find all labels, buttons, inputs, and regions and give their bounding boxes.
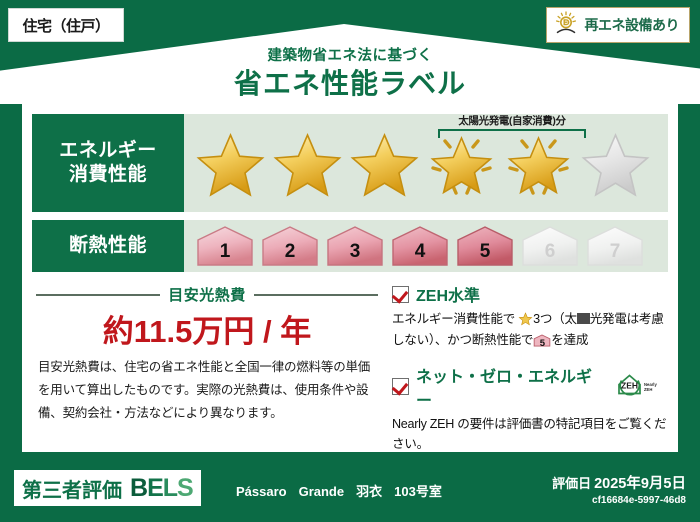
- category-chip: 住宅（住戸）: [8, 8, 124, 42]
- label-title: 省エネ性能ラベル: [0, 62, 700, 102]
- net-zero-energy-heading: ネット・ゼロ・エネルギー: [416, 363, 606, 411]
- insulation-level-badge-inline: 5: [533, 333, 551, 348]
- bels-energy-label: 住宅（住戸） 再エネ設備あり 建築物省エネ法に基づく 省エネ性能ラベル: [0, 0, 700, 522]
- zeh-standard-body-part2: 3つ（太: [533, 312, 577, 326]
- zeh-standard-heading: ZEH水準: [416, 282, 480, 306]
- net-zero-energy-body: Nearly ZEH の要件は評価書の特記項目をご覧ください。: [392, 414, 668, 456]
- energy-performance-row: エネルギー 消費性能: [32, 114, 668, 212]
- insulation-level-3-num: 3: [324, 241, 386, 263]
- insulation-level-1-num: 1: [194, 241, 256, 263]
- bels-letter-e: E: [147, 474, 163, 502]
- zeh-house-logo-icon: ZEH Nearly ZEH: [616, 372, 668, 401]
- insulation-performance-value: 1 2: [184, 220, 668, 272]
- insulation-level-4: 4: [389, 224, 451, 268]
- insulation-level-badge-inline-num: 5: [533, 336, 551, 352]
- star-2-filled: [269, 126, 346, 200]
- zeh-standard-block: ZEH水準 エネルギー消費性能で 3つ（太光発電は考慮しない）、かつ断熱性能で …: [392, 282, 668, 351]
- insulation-level-6-num: 6: [519, 241, 581, 263]
- evaluation-date-row: 評価日2025年9月5日: [552, 472, 686, 493]
- zeh-standard-body-part4: を達成: [551, 333, 588, 347]
- evaluation-date-value: 2025年9月5日: [594, 476, 686, 492]
- property-name: PássaroGrande羽衣103号室: [236, 481, 454, 500]
- zeh-standard-body: エネルギー消費性能で 3つ（太光発電は考慮しない）、かつ断熱性能で 5 を達成: [392, 309, 668, 351]
- insulation-level-4-num: 4: [389, 241, 451, 263]
- net-zero-energy-heading-row: ネット・ゼロ・エネルギー ZEH Nearly ZEH: [392, 363, 668, 411]
- renewable-energy-badge-label: 再エネ設備あり: [585, 15, 680, 35]
- property-name-part-4: 103号室: [394, 484, 442, 499]
- bels-letter-b: B: [130, 474, 147, 502]
- insulation-level-7-num: 7: [584, 241, 646, 263]
- energy-performance-key-line2: 消費性能: [69, 163, 147, 187]
- check-icon-net-zero-energy: [392, 378, 409, 395]
- bels-letter-s: S: [177, 474, 193, 502]
- insulation-level-2-num: 2: [259, 241, 321, 263]
- cost-heading-rule-left: [36, 294, 160, 296]
- insulation-level-scale: 1 2: [194, 220, 662, 272]
- star-1-filled: [192, 126, 269, 200]
- insulation-level-7: 7: [584, 224, 646, 268]
- insulation-performance-key: 断熱性能: [32, 220, 184, 272]
- solar-annotation-label: 太陽光発電(自家消費)分: [422, 116, 602, 128]
- energy-performance-key: エネルギー 消費性能: [32, 114, 184, 212]
- star-3-filled: [346, 126, 423, 200]
- section-divider: [386, 284, 387, 444]
- evaluation-info: 評価日2025年9月5日 cf16684e-5997-46d8: [552, 472, 686, 506]
- cost-heading-rule-right: [254, 294, 378, 296]
- sun-renewable-icon: [553, 10, 579, 41]
- svg-text:ZEH: ZEH: [644, 387, 652, 392]
- property-name-part-2: Grande: [299, 484, 345, 499]
- property-name-part-1: Pássaro: [236, 484, 287, 499]
- insulation-level-3: 3: [324, 224, 386, 268]
- solar-annotation: 太陽光発電(自家消費)分: [422, 116, 602, 138]
- category-chip-label: 住宅（住戸）: [22, 15, 109, 36]
- solar-annotation-bracket: [438, 129, 586, 138]
- energy-performance-key-line1: エネルギー: [59, 139, 157, 163]
- net-zero-energy-block: ネット・ゼロ・エネルギー ZEH Nearly ZEH Nearly ZEH の…: [392, 363, 668, 456]
- zeh-standard-heading-row: ZEH水準: [392, 282, 668, 306]
- insulation-performance-row: 断熱性能 1: [32, 220, 668, 272]
- bels-wordmark: BELS: [130, 474, 193, 503]
- star-icon: [518, 311, 533, 326]
- insulation-level-6: 6: [519, 224, 581, 268]
- insulation-performance-key-label: 断熱性能: [69, 234, 147, 258]
- label-body-card: エネルギー 消費性能: [22, 104, 678, 452]
- bels-certification-box: 第三者評価 BELS: [14, 470, 201, 506]
- energy-performance-value: 太陽光発電(自家消費)分: [184, 114, 668, 212]
- property-name-part-3: 羽衣: [356, 484, 382, 499]
- renewable-energy-badge: 再エネ設備あり: [546, 7, 691, 43]
- bels-letter-l: L: [163, 474, 177, 502]
- redacted-character: [577, 313, 590, 324]
- zeh-standard-body-part1: エネルギー消費性能で: [392, 312, 515, 326]
- cost-note: 目安光熱費は、住宅の省エネ性能と全国一律の燃料等の単価を用いて算出したものです。…: [38, 356, 378, 425]
- zeh-section: ZEH水準 エネルギー消費性能で 3つ（太光発電は考慮しない）、かつ断熱性能で …: [392, 282, 668, 455]
- insulation-level-5-num: 5: [454, 241, 516, 263]
- svg-text:ZEH: ZEH: [621, 381, 638, 391]
- check-icon-zeh-standard: [392, 286, 409, 303]
- evaluation-id: cf16684e-5997-46d8: [552, 495, 686, 506]
- cost-amount: 約11.5万円 / 年: [36, 306, 378, 351]
- label-footer: 第三者評価 BELS PássaroGrande羽衣103号室 評価日2025年…: [0, 460, 700, 522]
- insulation-level-2: 2: [259, 224, 321, 268]
- evaluation-date-label: 評価日: [552, 476, 591, 491]
- third-party-label: 第三者評価: [22, 474, 122, 503]
- cost-heading-row: 目安光熱費: [36, 284, 378, 305]
- insulation-level-1: 1: [194, 224, 256, 268]
- insulation-level-5: 5: [454, 224, 516, 268]
- cost-heading-label: 目安光熱費: [168, 284, 246, 305]
